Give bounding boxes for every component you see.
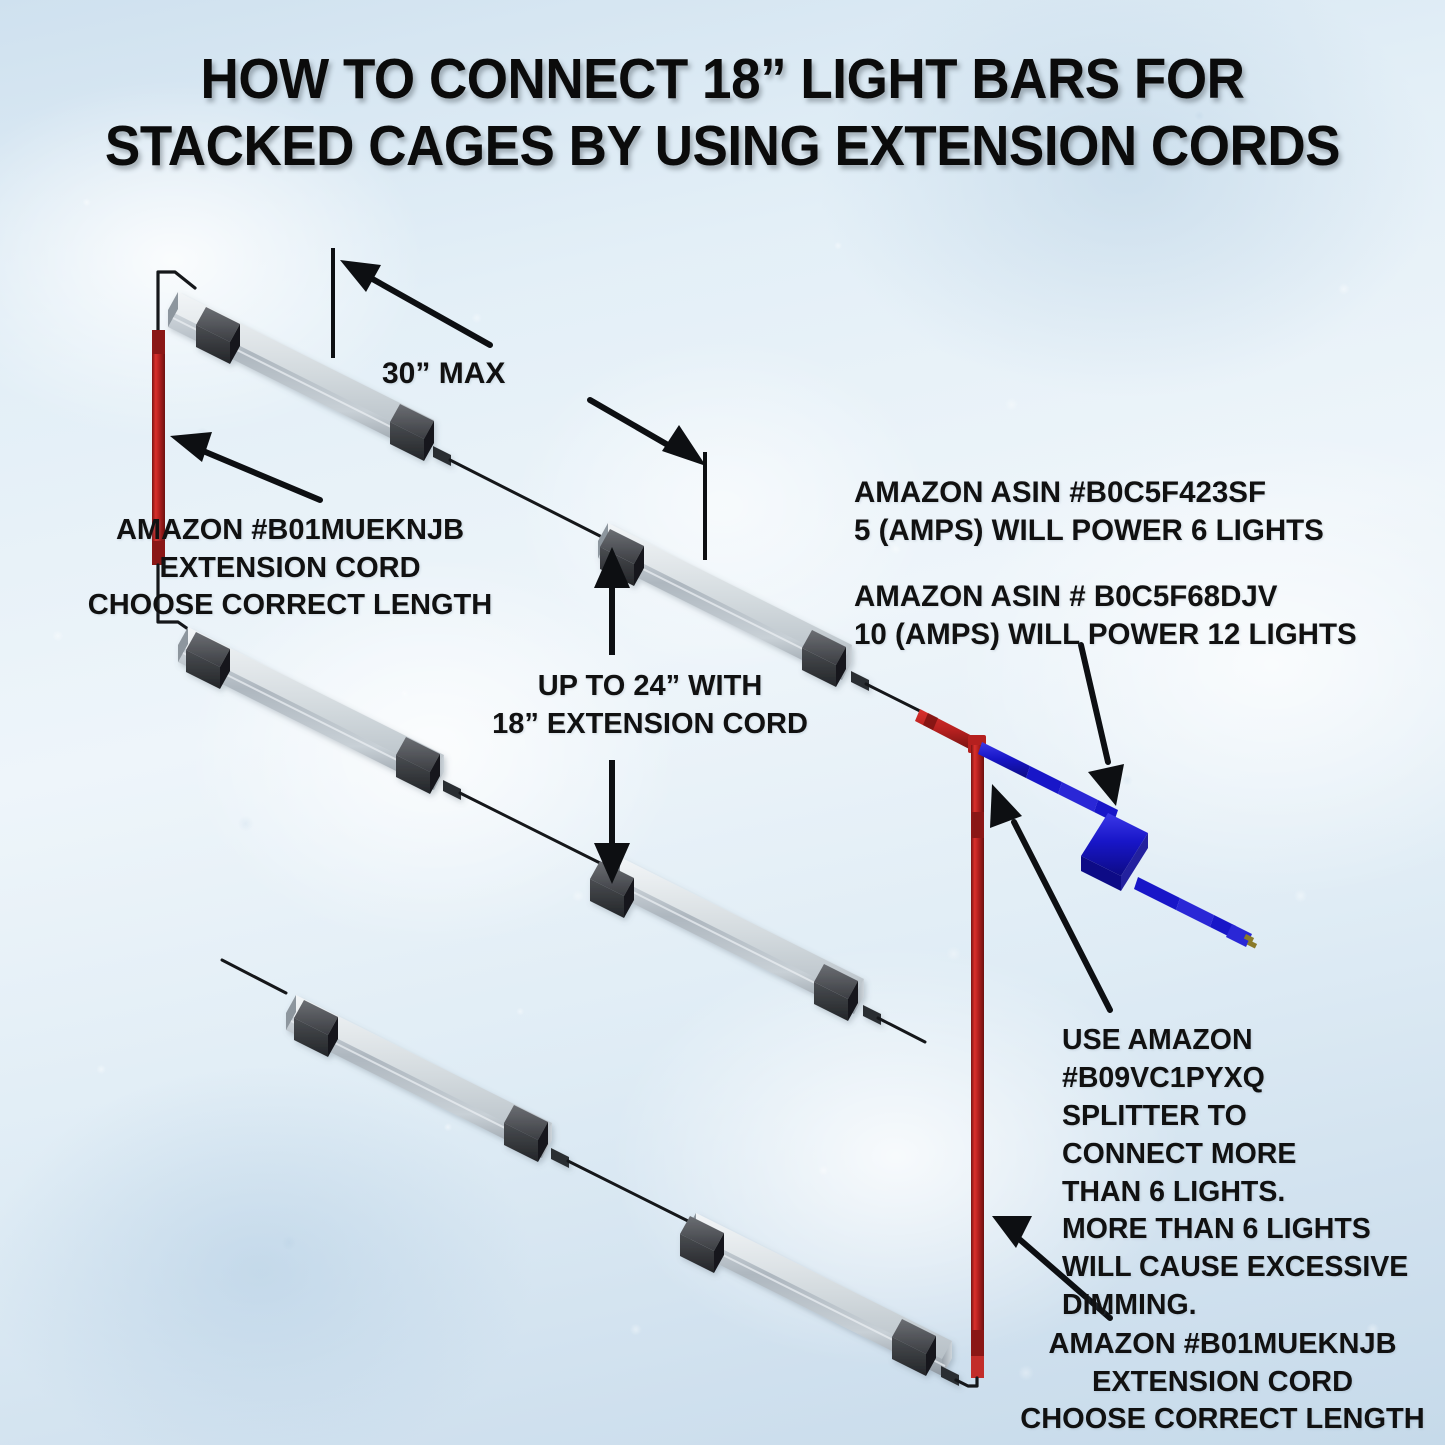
extension-cord-right xyxy=(971,745,984,1377)
annotation-asin-5amp: AMAZON ASIN #B0C5F423SF 5 (AMPS) WILL PO… xyxy=(854,474,1394,551)
bar-bracket xyxy=(186,632,230,689)
bar-bracket xyxy=(892,1319,936,1376)
wire-row1-to-splitter xyxy=(866,684,922,712)
annotation-asin-10amp: AMAZON ASIN # B0C5F68DJV 10 (AMPS) WILL … xyxy=(854,578,1414,655)
annotation-up-to-24-inch: UP TO 24” WITH 18” EXTENSION CORD xyxy=(455,668,845,743)
bar-bracket xyxy=(294,1000,338,1057)
bar-bracket xyxy=(390,404,434,461)
light-bar-3a xyxy=(286,995,569,1168)
light-bar-2b xyxy=(590,857,881,1025)
light-bar-3b xyxy=(680,1213,959,1386)
annotation-bottom-extension-cord: AMAZON #B01MUEKNJB EXTENSION CORD CHOOSE… xyxy=(1000,1326,1445,1439)
bar-bracket xyxy=(196,307,240,364)
wire-row3-to-cord xyxy=(956,1378,977,1386)
wire-row3-head xyxy=(222,960,286,993)
arrow-splitter xyxy=(990,784,1110,1010)
annotation-30-inch-max: 30” MAX xyxy=(382,354,672,393)
light-bar-2a xyxy=(178,627,461,800)
bar-bracket xyxy=(504,1105,548,1162)
bar-bracket xyxy=(814,964,858,1021)
arrow-power-adapter xyxy=(1081,645,1124,806)
infographic-canvas: HOW TO CONNECT 18” LIGHT BARS FOR STACKE… xyxy=(0,0,1445,1445)
wire-row3-mid xyxy=(568,1161,688,1221)
wire-row2-mid xyxy=(460,793,612,869)
wire-row2-tail xyxy=(878,1018,925,1042)
annotation-splitter-warning: USE AMAZON #B09VC1PYXQ SPLITTER TO CONNE… xyxy=(1062,1022,1445,1325)
bar-bracket xyxy=(396,737,440,794)
arrow-left-extension-cord xyxy=(170,432,320,500)
light-bar-1b xyxy=(598,523,869,691)
annotation-left-extension-cord: AMAZON #B01MUEKNJB EXTENSION CORD CHOOSE… xyxy=(30,512,550,625)
